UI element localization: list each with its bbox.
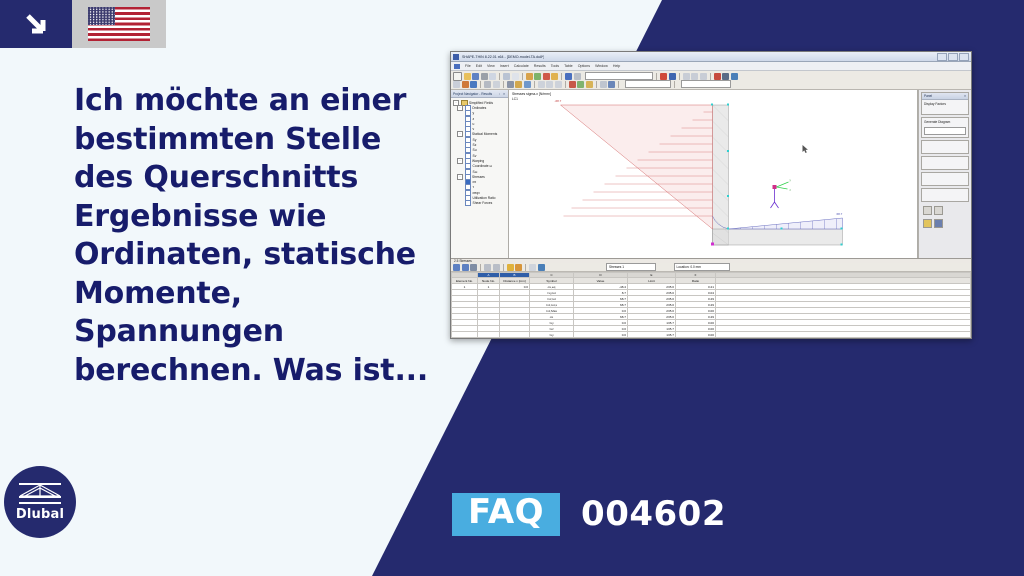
toolbar-row-1[interactable]	[453, 72, 969, 80]
tree-item-label: Stresses	[472, 175, 485, 179]
arrow-down-right-icon	[0, 0, 72, 48]
undo-icon[interactable]	[526, 73, 533, 80]
section-combo[interactable]	[625, 80, 671, 88]
table-print-icon[interactable]	[453, 264, 460, 271]
tree-item-label: σx	[473, 180, 477, 184]
shape-thin-window[interactable]: SHAPE-THIN 8.22.01 x64 - [DEMO-model-TA.…	[450, 51, 972, 339]
tree-item-label: Su	[473, 148, 477, 152]
cell-limit[interactable]	[628, 338, 676, 340]
tree-item-label: Sω	[473, 170, 478, 174]
snap-icon[interactable]	[600, 81, 607, 88]
location-combo[interactable]	[681, 80, 731, 88]
tree-item-label: u	[473, 122, 475, 126]
toolbar-row-2[interactable]	[453, 80, 969, 88]
page-title: Ich möchte an einer bestimmten Stelle de…	[74, 82, 444, 390]
isoline-icon[interactable]	[586, 81, 593, 88]
filter-icon[interactable]	[934, 219, 943, 228]
table-sort-icon[interactable]	[493, 264, 500, 271]
cell-ratio[interactable]	[676, 338, 716, 340]
generate-diagram-input[interactable]	[924, 127, 966, 135]
table-body[interactable]: 1 1 0.0 σx,eq -48.4 235.0 0.21 τxy,tot	[452, 284, 971, 340]
cell-pad	[716, 338, 971, 340]
front-view-icon[interactable]	[691, 73, 698, 80]
navigator-title: Project Navigator - Results	[453, 92, 492, 96]
panel-box: Panel × Display Factors	[921, 92, 969, 115]
app-icon	[453, 54, 459, 60]
cell-element-no[interactable]	[452, 338, 478, 340]
faq-number: 004602	[581, 494, 726, 534]
cell-node-no[interactable]	[478, 338, 500, 340]
generate-diagram-label: Generate Diagram	[922, 118, 968, 126]
section-icon[interactable]	[507, 81, 514, 88]
copy-icon[interactable]	[512, 73, 519, 80]
loading-combo[interactable]	[585, 72, 653, 80]
dlubal-logo-text: Dlubal	[16, 507, 64, 522]
navigator-tree[interactable]: - Simplified Fields - Ordinates y	[451, 98, 508, 258]
panel-footer-icons[interactable]	[921, 217, 969, 230]
diagram-label-max: 68.7	[837, 212, 843, 216]
svg-text:y: y	[790, 179, 792, 182]
results-panel[interactable]: Panel × Display Factors Generate Diagram	[918, 90, 971, 258]
diagram-icon[interactable]	[569, 81, 576, 88]
cell-distance[interactable]	[500, 338, 530, 340]
us-flag-icon	[88, 7, 150, 41]
window-titlebar: SHAPE-THIN 8.22.01 x64 - [DEMO-model-TA.…	[451, 52, 971, 62]
tree-expander[interactable]: -	[457, 158, 463, 164]
material-icon[interactable]	[515, 81, 522, 88]
zoom-in-icon[interactable]	[543, 73, 550, 80]
checkbox-icon[interactable]	[465, 200, 471, 206]
node-icon[interactable]	[462, 81, 469, 88]
mouse-cursor-icon	[803, 145, 808, 153]
slide-root: Ich möchte an einer bestimmten Stelle de…	[0, 0, 1024, 576]
print-icon[interactable]	[934, 206, 943, 215]
generate-diagram-box: Generate Diagram	[921, 117, 969, 138]
cut-icon[interactable]	[503, 73, 510, 80]
menu-item-help[interactable]: Help	[613, 64, 620, 68]
menu-item-window[interactable]: Window	[595, 64, 608, 68]
panel-slot-2	[921, 156, 969, 170]
faq-label: FAQ	[452, 493, 560, 536]
menu-item-insert[interactable]: Insert	[500, 64, 509, 68]
work-area: Project Navigator - Results ▫ × - Simpli…	[451, 90, 971, 258]
table-settings-icon[interactable]	[470, 264, 477, 271]
app-menu-icon[interactable]	[454, 64, 460, 69]
print-icon[interactable]	[481, 73, 488, 80]
tree-item-label: τ	[473, 185, 474, 189]
render-icon[interactable]	[574, 73, 581, 80]
settings-icon[interactable]	[722, 73, 729, 80]
navigator-close-icon[interactable]: ▫ ×	[499, 92, 506, 96]
table-export-icon[interactable]	[462, 264, 469, 271]
tree-item-label: Sy	[473, 138, 477, 142]
close-button[interactable]	[959, 53, 969, 61]
window-controls[interactable]	[937, 53, 969, 61]
table-grid-icon[interactable]	[529, 264, 536, 271]
panel-title: Panel	[924, 94, 932, 98]
tree-item-label: z	[473, 117, 475, 121]
tree-item-label: Shear Forces	[473, 201, 493, 205]
tree-expander[interactable]: -	[457, 131, 463, 137]
help-icon[interactable]	[731, 73, 738, 80]
svg-text:z: z	[790, 189, 792, 192]
menu-item-file[interactable]: File	[465, 64, 471, 68]
tree-expander[interactable]: -	[457, 105, 463, 111]
pencil-icon[interactable]	[923, 206, 932, 215]
table-row-selected[interactable]	[452, 338, 971, 340]
window-title: SHAPE-THIN 8.22.01 x64 - [DEMO-model-TA.…	[462, 55, 544, 59]
table-highlight-icon[interactable]	[507, 264, 514, 271]
results-on-icon[interactable]	[660, 73, 667, 80]
cell-value[interactable]	[574, 338, 628, 340]
toolbars[interactable]	[451, 71, 971, 90]
stress-tau-icon[interactable]	[546, 81, 553, 88]
faq-badge: FAQ 004602	[452, 493, 726, 536]
dimension-icon[interactable]	[484, 81, 491, 88]
panel-slot-4	[921, 188, 969, 202]
menu-item-calculate[interactable]: Calculate	[514, 64, 529, 68]
language-flag-button[interactable]	[72, 0, 166, 48]
menu-item-options[interactable]: Options	[578, 64, 590, 68]
tree-item-label: Simplified Fields	[469, 101, 493, 105]
panel-close-icon[interactable]: ×	[964, 94, 966, 98]
canvas-subtitle: LC1	[512, 97, 518, 101]
delete-icon[interactable]	[714, 73, 721, 80]
table-select-combo[interactable]: Stresses 1	[606, 263, 656, 271]
result-bar-icon[interactable]	[669, 73, 676, 80]
menu-item-results[interactable]: Results	[534, 64, 546, 68]
tree-expander[interactable]: -	[457, 174, 463, 180]
menu-item-view[interactable]: View	[487, 64, 495, 68]
panel-slot-3	[921, 172, 969, 186]
minimize-button[interactable]	[937, 53, 947, 61]
zoom-out-icon[interactable]	[551, 73, 558, 80]
results-table-pane[interactable]: 2.5 Stresses Stresses 1 Location: 0.0 mm	[451, 258, 971, 339]
tree-item-label: σeqv	[473, 191, 480, 195]
dlubal-logo: Dlubal	[4, 466, 76, 538]
panel-action-icons[interactable]	[921, 204, 969, 217]
element-icon[interactable]	[470, 81, 477, 88]
ortho-icon[interactable]	[608, 81, 615, 88]
panel-header: Panel ×	[922, 93, 968, 100]
text-icon[interactable]	[493, 81, 500, 88]
open-file-icon[interactable]	[464, 73, 471, 80]
tree-item-shear-forces[interactable]: Shear Forces	[453, 201, 506, 206]
tree-item-label: Coordinate ω	[473, 164, 493, 168]
diagram-label-min: -68.7	[555, 99, 562, 103]
panel-slot-1	[921, 140, 969, 154]
thickness-icon[interactable]	[524, 81, 531, 88]
canvas-title: Stresses sigma-x [N/mm²]	[512, 92, 551, 96]
dlubal-truss-icon	[19, 483, 61, 505]
preview-icon[interactable]	[489, 73, 496, 80]
tree-item-label: Warping	[472, 159, 484, 163]
tree-item-label: Statical Moments	[472, 132, 497, 136]
save-icon[interactable]	[472, 73, 479, 80]
menu-item-table[interactable]: Table	[564, 64, 573, 68]
contour-icon[interactable]	[577, 81, 584, 88]
new-file-icon[interactable]	[453, 72, 462, 81]
menu-item-tools[interactable]: Tools	[551, 64, 559, 68]
lock-icon[interactable]	[923, 219, 932, 228]
cell-symbol[interactable]	[530, 338, 574, 340]
tree-item-label: Sv	[473, 154, 477, 158]
maximize-button[interactable]	[948, 53, 958, 61]
centroid-marker: y z	[771, 179, 792, 208]
table-location-combo[interactable]: Location: 0.0 mm	[674, 263, 730, 271]
table-filter-icon[interactable]	[484, 264, 491, 271]
display-factors-label: Display Factors	[922, 100, 968, 108]
table-help-icon[interactable]	[538, 264, 545, 271]
tree-item-label: Sz	[473, 143, 477, 147]
menu-item-edit[interactable]: Edit	[476, 64, 482, 68]
cross-section-drawing[interactable]: -68.7 68.7	[509, 90, 917, 258]
project-navigator[interactable]: Project Navigator - Results ▫ × - Simpli…	[451, 90, 509, 258]
select-icon[interactable]	[453, 81, 460, 88]
redo-icon[interactable]	[534, 73, 541, 80]
results-table[interactable]: A B C D E F Element No. Node No. Distanc…	[451, 272, 971, 339]
stress-sx-icon[interactable]	[538, 81, 545, 88]
stress-eq-icon[interactable]	[555, 81, 562, 88]
tree-item-label: y	[473, 111, 475, 115]
tree-item-label: Ordinates	[472, 106, 486, 110]
side-view-icon[interactable]	[700, 73, 707, 80]
graphics-canvas[interactable]: Stresses sigma-x [N/mm²] LC1	[509, 90, 918, 258]
table-color-icon[interactable]	[515, 264, 522, 271]
menu-bar[interactable]: File Edit View Insert Calculate Results …	[451, 62, 971, 71]
table-toolbar[interactable]: Stresses 1 Location: 0.0 mm	[451, 263, 971, 272]
grid-icon[interactable]	[565, 73, 572, 80]
navigator-header: Project Navigator - Results ▫ ×	[451, 90, 508, 98]
tree-item-label: v	[473, 127, 475, 131]
isometric-icon[interactable]	[683, 73, 690, 80]
tree-item-label: Utilization Ratio	[473, 196, 496, 200]
